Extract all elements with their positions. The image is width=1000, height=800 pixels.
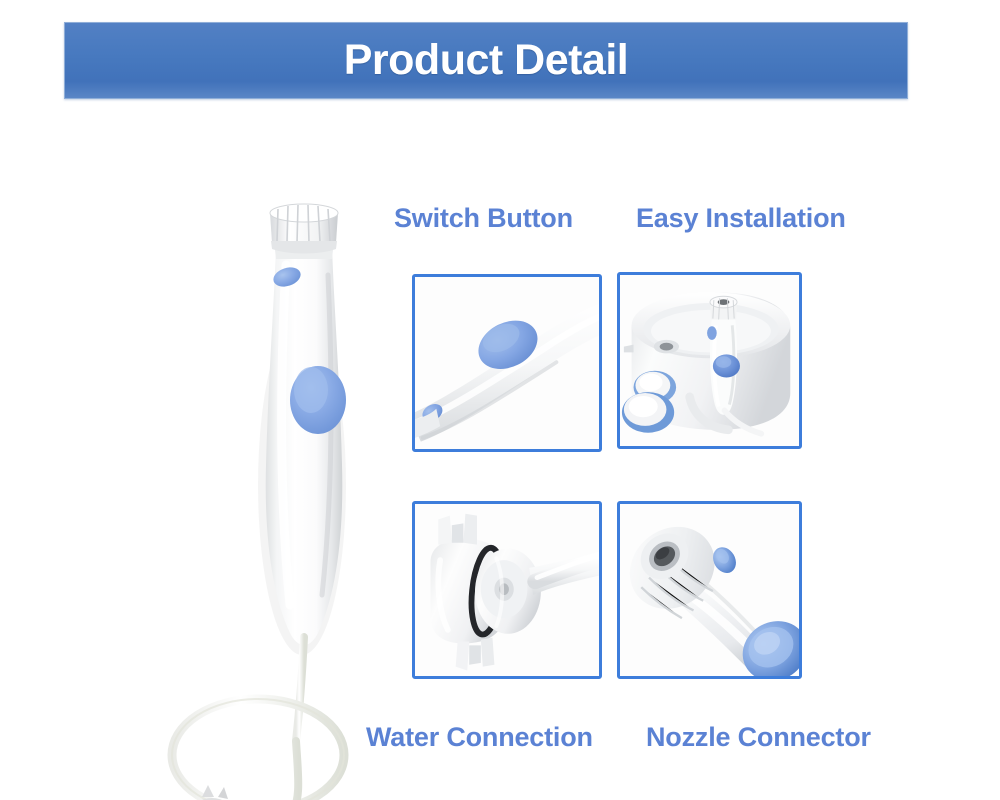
feature-label-nozzle-connector: Nozzle Connector — [646, 722, 871, 753]
nozzle-connector-photo — [620, 504, 799, 676]
handle-collar — [270, 204, 338, 254]
feature-label-easy-installation: Easy Installation — [636, 203, 846, 234]
detail-panel-easy-installation — [617, 272, 802, 449]
page-title: Product Detail — [344, 39, 629, 82]
easy-installation-photo — [620, 275, 799, 446]
hero-product-image — [150, 185, 450, 800]
control-knob-lower — [622, 392, 674, 433]
product-detail-page: Product Detail — [0, 0, 1000, 800]
detail-panel-nozzle-connector — [617, 501, 802, 679]
detail-panel-switch-button — [412, 274, 602, 452]
detail-panel-water-connection — [412, 501, 602, 679]
feature-label-water-connection: Water Connection — [366, 722, 593, 753]
feature-label-switch-button: Switch Button — [394, 203, 573, 234]
header-banner: Product Detail — [64, 22, 908, 99]
switch-button-photo — [415, 277, 599, 449]
water-connection-photo — [415, 504, 599, 676]
